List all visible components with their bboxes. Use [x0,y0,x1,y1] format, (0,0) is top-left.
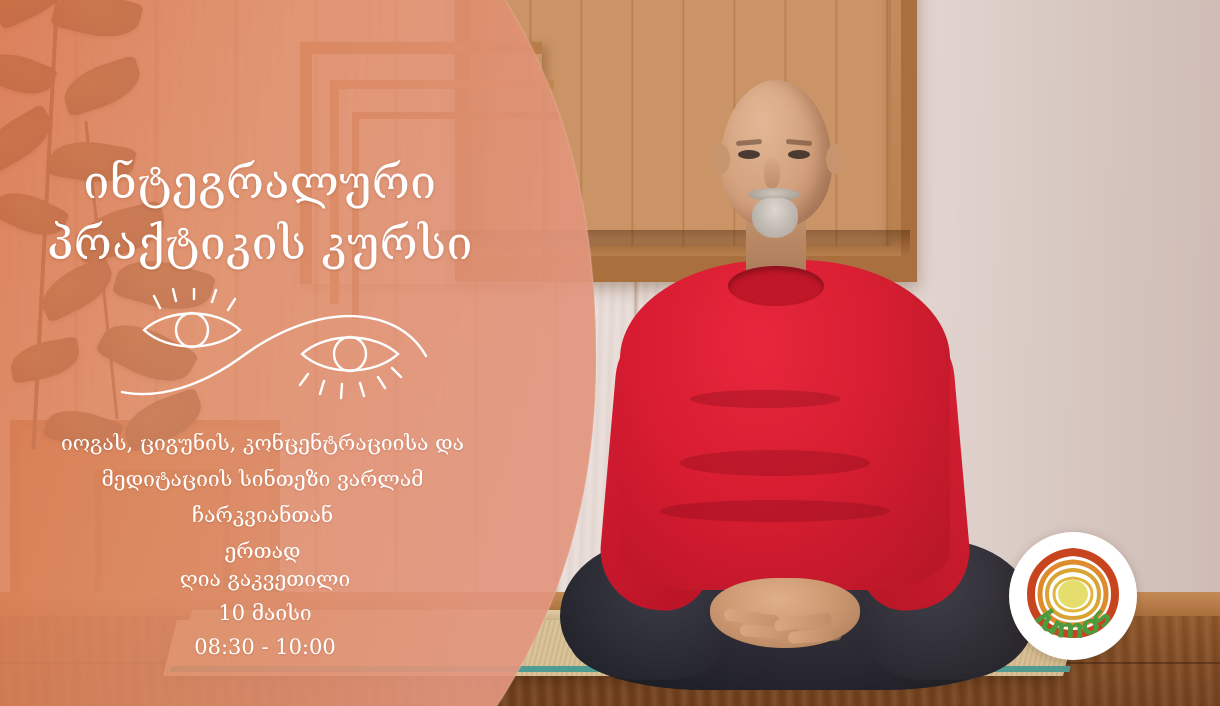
schedule-event-label: ღია გაკვეთილი [60,562,470,596]
eye-motif-icon [120,288,430,408]
page-title: ინტეგრალური პრაქტიკის კურსი [0,152,520,273]
schedule-date: 10 მაისი [60,596,470,630]
lumos-logo[interactable]: lumos [1009,532,1137,660]
schedule-block: ღია გაკვეთილი 10 მაისი 08:30 - 10:00 [60,562,470,664]
schedule-time: 08:30 - 10:00 [60,630,470,664]
poster-canvas: ინტეგრალური პრაქტიკის კურსი [0,0,1220,706]
description-line-1: იოგას, ციგუნის, კონცენტრაციისა და [55,425,470,461]
description-text: იოგას, ციგუნის, კონცენტრაციისა და მედიტა… [55,425,470,569]
poster-text-column: ინტეგრალური პრაქტიკის კურსი [0,0,520,706]
title-line-2: პრაქტიკის კურსი [0,213,520,274]
description-line-2: მედიტაციის სინთეზი ვარლამ ჩარკვიანთან [55,461,470,533]
title-line-1: ინტეგრალური [0,152,520,213]
